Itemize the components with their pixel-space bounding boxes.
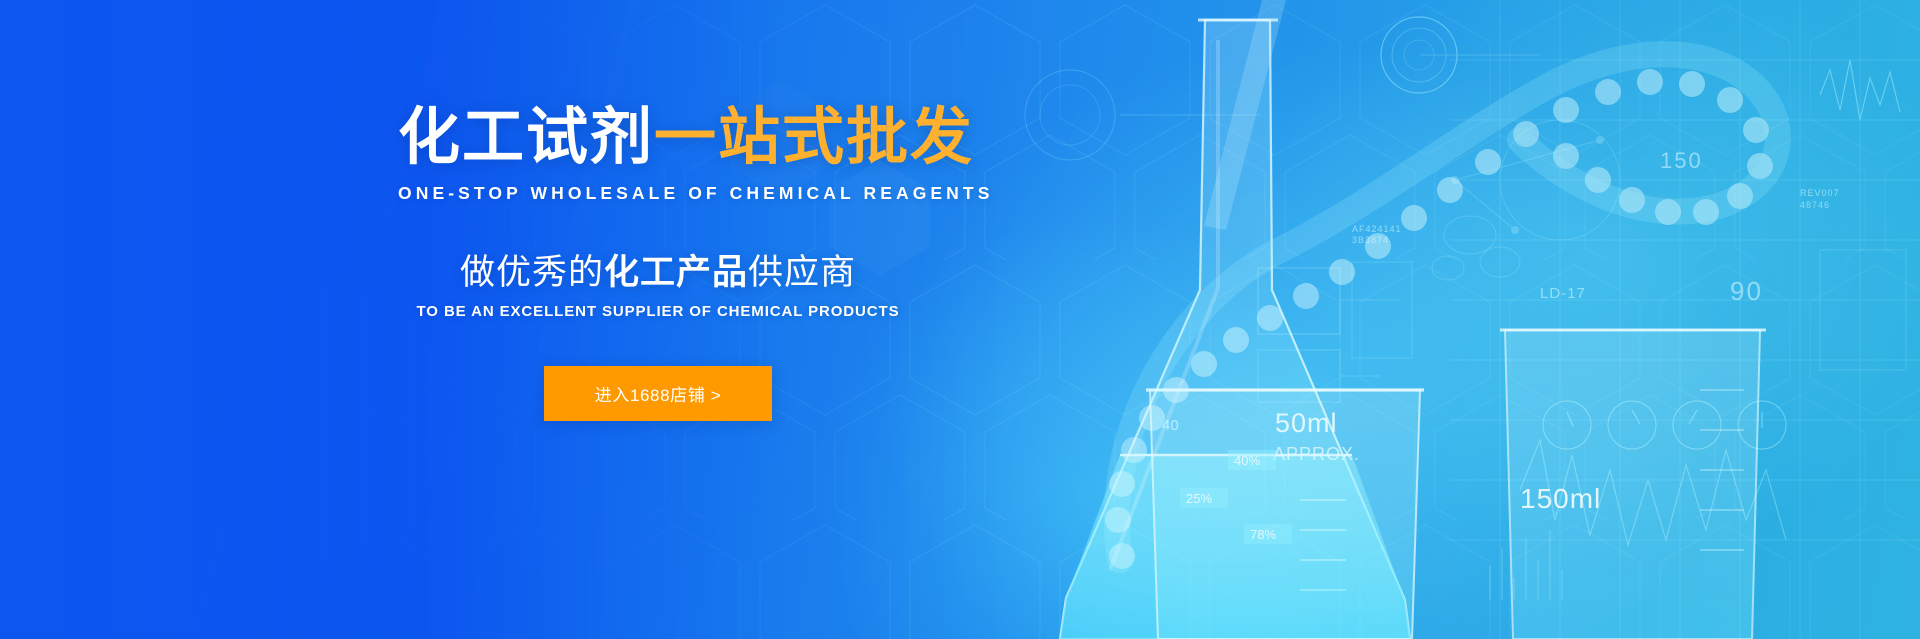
photo-left-fade	[0, 0, 1920, 639]
light-streaks	[0, 0, 1920, 639]
hexagon-mesh-background	[0, 0, 1920, 639]
svg-text:78%: 78%	[1250, 527, 1276, 542]
erlenmeyer-flask: 50ml APPROX. 40	[1060, 20, 1410, 639]
enter-1688-shop-button[interactable]: 进入1688店铺 >	[544, 366, 772, 421]
headline-accent-text: 一站式批发	[654, 103, 974, 172]
gauge-tags: 40% 25% 78%	[1180, 450, 1292, 544]
svg-text:APPROX.: APPROX.	[1273, 444, 1360, 464]
svg-text:AF424141: AF424141	[1352, 224, 1402, 234]
svg-text:50ml: 50ml	[1275, 408, 1338, 438]
tagline-strong-text: 化工产品	[604, 253, 748, 292]
banner-headline: 化工试剂一站式批发	[398, 105, 918, 170]
tall-beaker: 150ml	[1500, 330, 1766, 639]
glassware-glow	[0, 0, 1920, 639]
svg-text:40: 40	[1162, 417, 1179, 434]
laboratory-glassware-image: 50ml APPROX. 40 40% 25% 78% 150ml	[0, 0, 1920, 639]
tagline-lead-text: 做优秀的	[460, 253, 604, 292]
svg-text:REV007: REV007	[1800, 188, 1840, 198]
headline-primary-text: 化工试剂	[398, 103, 654, 172]
svg-text:150ml: 150ml	[1520, 483, 1601, 514]
hexagon-accents	[0, 0, 1920, 639]
svg-text:LD-17: LD-17	[1540, 285, 1586, 302]
molecular-chain	[1105, 54, 1778, 569]
cta-container: 进入1688店铺 >	[398, 366, 918, 421]
svg-text:48746: 48746	[1800, 200, 1830, 210]
tech-hud-overlay: 150 90 LD-17 REV007 48746 AF424141 3B387…	[0, 0, 1920, 639]
svg-text:3B3874: 3B3874	[1352, 235, 1389, 245]
svg-text:40%: 40%	[1234, 453, 1260, 468]
svg-text:150: 150	[1660, 148, 1703, 173]
headline-subtitle-english: ONE-STOP WHOLESALE OF CHEMICAL REAGENTS	[398, 183, 918, 204]
svg-text:90: 90	[1730, 276, 1763, 306]
promo-banner: 150 90 LD-17 REV007 48746 AF424141 3B387…	[0, 0, 1920, 639]
svg-text:25%: 25%	[1186, 491, 1212, 506]
graduated-beaker: 40% 25% 78%	[1146, 390, 1424, 639]
banner-tagline: 做优秀的化工产品供应商	[398, 252, 918, 294]
tagline-tail-text: 供应商	[748, 253, 856, 292]
corner-vignette	[0, 0, 1920, 639]
tagline-subtitle-english: TO BE AN EXCELLENT SUPPLIER OF CHEMICAL …	[398, 303, 918, 320]
banner-copy-block: 化工试剂一站式批发 ONE-STOP WHOLESALE OF CHEMICAL…	[398, 105, 918, 421]
glass-rod	[1204, 0, 1286, 230]
